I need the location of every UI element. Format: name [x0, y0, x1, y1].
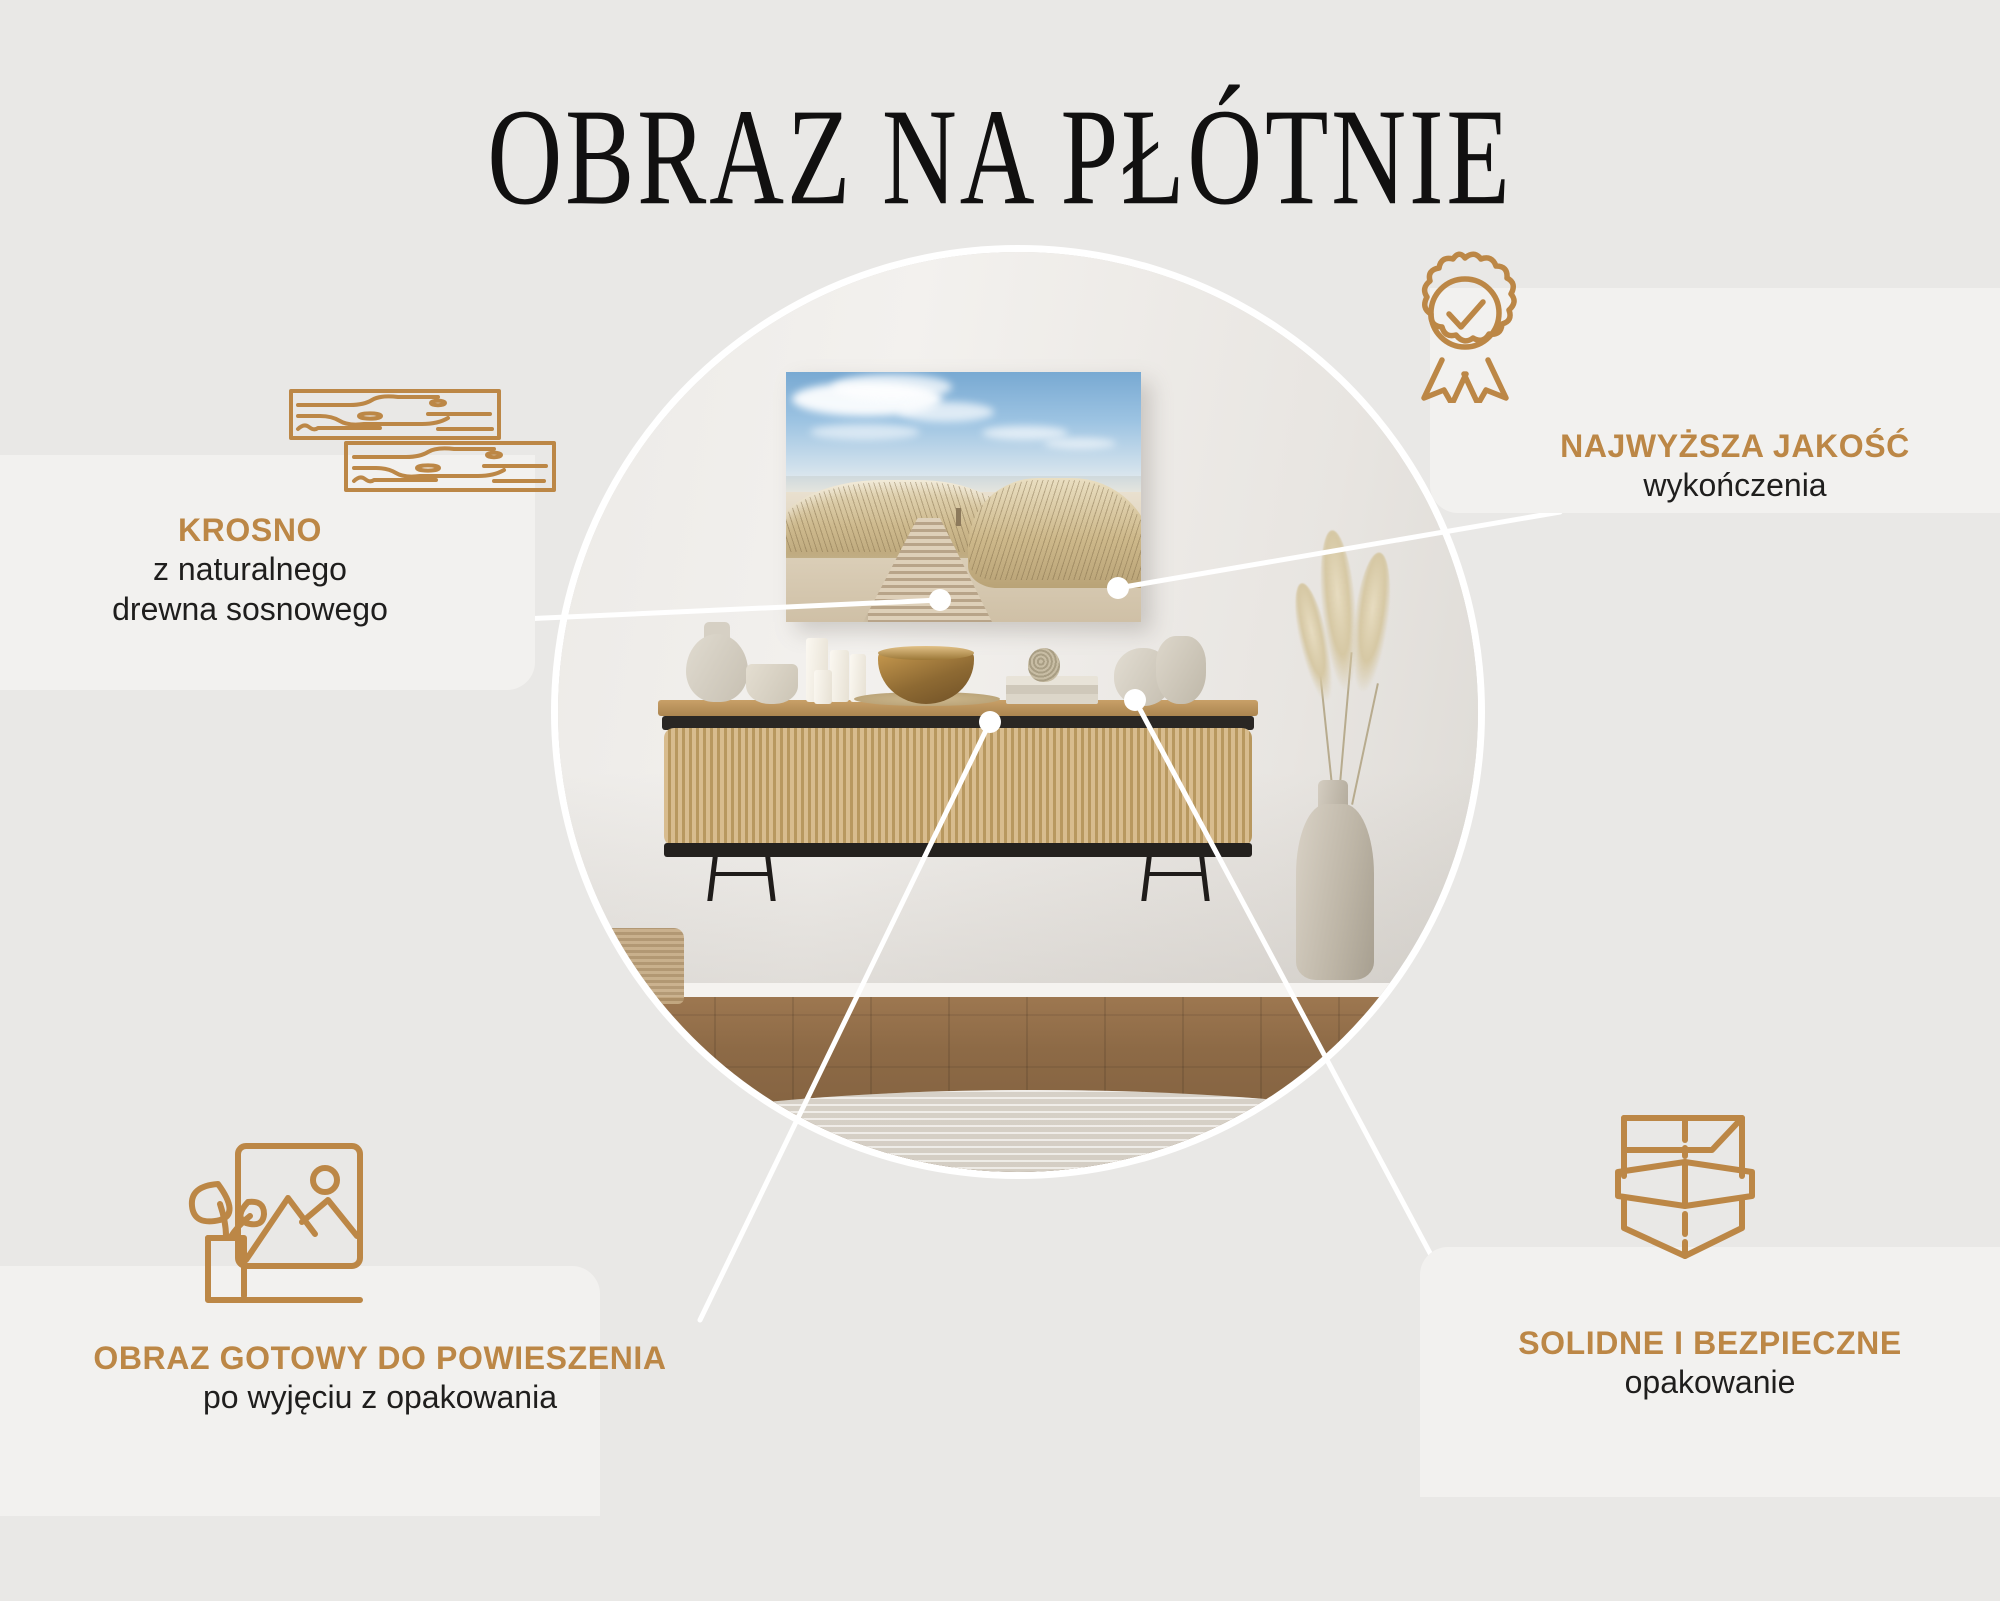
- woven-basket: [594, 928, 684, 1004]
- feature-label-jakosc: NAJWYŻSZA JAKOŚĆ wykończenia: [1520, 428, 1950, 505]
- feature-subtitle-opakowanie-line1: opakowanie: [1460, 1362, 1960, 1402]
- feature-subtitle-krosno-line2: drewna sosnowego: [0, 589, 500, 629]
- feature-label-krosno: KROSNO z naturalnego drewna sosnowego: [0, 512, 500, 629]
- quality-badge-icon: [1400, 248, 1530, 403]
- infographic-stage: OBRAZ NA PŁÓTNIE: [0, 0, 2000, 1601]
- feature-subtitle-jakosc-line1: wykończenia: [1520, 465, 1950, 505]
- pillar-candle: [830, 650, 849, 702]
- ceramic-vase-round: [686, 634, 748, 702]
- sideboard-crossbar: [712, 872, 772, 876]
- feature-heading-gotowy: OBRAZ GOTOWY DO POWIESZENIA: [10, 1340, 750, 1377]
- feature-label-opakowanie: SOLIDNE I BEZPIECZNE opakowanie: [1460, 1325, 1960, 1402]
- feature-label-gotowy: OBRAZ GOTOWY DO POWIESZENIA po wyjęciu z…: [10, 1340, 750, 1417]
- cloud: [1044, 438, 1116, 449]
- feature-heading-opakowanie: SOLIDNE I BEZPIECZNE: [1460, 1325, 1960, 1362]
- cloud: [832, 374, 952, 400]
- decorative-stone: [1028, 648, 1060, 682]
- artwork-fence-post: [956, 508, 961, 526]
- page-title: OBRAZ NA PŁÓTNIE: [40, 88, 1960, 229]
- artwork-right-dune-grass: [969, 480, 1141, 580]
- ceramic-bowl-small: [746, 664, 798, 704]
- sideboard: [658, 700, 1258, 870]
- feature-heading-krosno: KROSNO: [0, 512, 500, 549]
- cloud: [810, 424, 920, 440]
- wood-planks-icon: [288, 388, 558, 493]
- sideboard-fluted-front: [664, 728, 1252, 846]
- cloud: [982, 426, 1068, 440]
- pillar-candle: [814, 670, 832, 704]
- brass-bowl-rim: [878, 646, 974, 660]
- product-scene-circle: [558, 252, 1478, 1172]
- ceramic-vase-pair-back: [1156, 636, 1206, 704]
- open-box-icon: [1610, 1110, 1760, 1270]
- feature-subtitle-gotowy-line1: po wyjęciu z opakowania: [10, 1377, 750, 1417]
- feature-heading-jakosc: NAJWYŻSZA JAKOŚĆ: [1520, 428, 1950, 465]
- sideboard-crossbar: [1146, 872, 1206, 876]
- sideboard-base-band: [664, 843, 1252, 857]
- cloud: [898, 402, 994, 422]
- framed-picture-icon: [152, 1140, 372, 1330]
- canvas-artwork: [786, 372, 1141, 622]
- interior-room-photo: [558, 252, 1478, 1172]
- feature-subtitle-krosno-line1: z naturalnego: [0, 549, 500, 589]
- floor-vase: [1296, 804, 1374, 980]
